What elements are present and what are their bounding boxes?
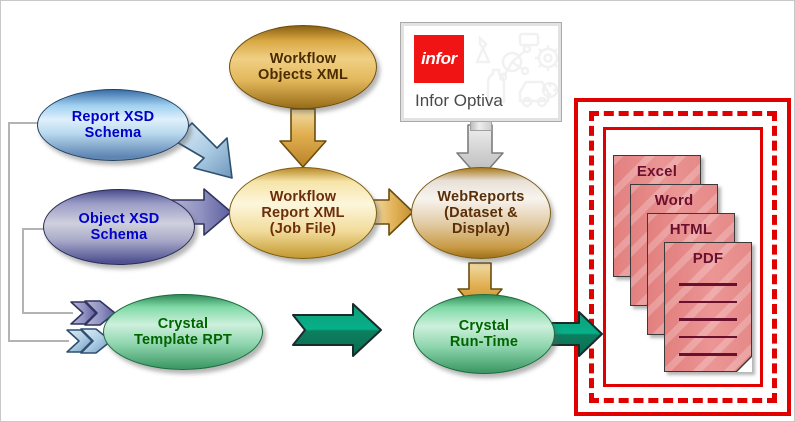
node-workflow-report-xml[interactable]: Workflow Report XML (Job File)	[229, 167, 377, 259]
optiva-panel[interactable]: infor Infor Optiva	[401, 23, 561, 121]
node-report-xsd-schema[interactable]: Report XSD Schema	[37, 89, 189, 161]
optiva-caption: Infor Optiva	[415, 91, 503, 111]
page-fold-corner	[737, 357, 752, 372]
output-card-label: Word	[631, 192, 717, 209]
node-workflow-objects-xml[interactable]: Workflow Objects XML	[229, 25, 377, 109]
node-label: Crystal Template RPT	[104, 316, 262, 348]
output-card-label: PDF	[665, 250, 751, 267]
arrow-workflow-objects-to-report	[280, 109, 326, 167]
node-crystal-runtime[interactable]: Crystal Run-Time	[413, 294, 555, 374]
arrow-runtime-to-outputs	[549, 312, 602, 356]
infor-logo-text: infor	[421, 49, 457, 69]
arrow-template-to-runtime	[293, 304, 381, 356]
node-label: Object XSD Schema	[44, 211, 194, 243]
node-object-xsd-schema[interactable]: Object XSD Schema	[43, 189, 195, 265]
sofa-icon	[520, 34, 538, 45]
node-crystal-template-rpt[interactable]: Crystal Template RPT	[103, 294, 263, 370]
output-card-pdf[interactable]: PDF	[664, 242, 752, 372]
node-label: WebReports (Dataset & Display)	[412, 189, 550, 238]
output-card-label: HTML	[648, 221, 734, 238]
node-webreports[interactable]: WebReports (Dataset & Display)	[411, 167, 551, 259]
infor-logo: infor	[414, 35, 464, 83]
pdf-text-lines	[679, 283, 737, 371]
node-label: Crystal Run-Time	[414, 318, 554, 350]
node-label: Report XSD Schema	[38, 109, 188, 141]
diagram-canvas: Excel Word HTML PDF	[0, 0, 795, 422]
node-label: Workflow Objects XML	[230, 51, 376, 83]
dress-icon	[477, 38, 489, 62]
node-label: Workflow Report XML (Job File)	[230, 189, 376, 238]
output-card-label: Excel	[614, 163, 700, 180]
